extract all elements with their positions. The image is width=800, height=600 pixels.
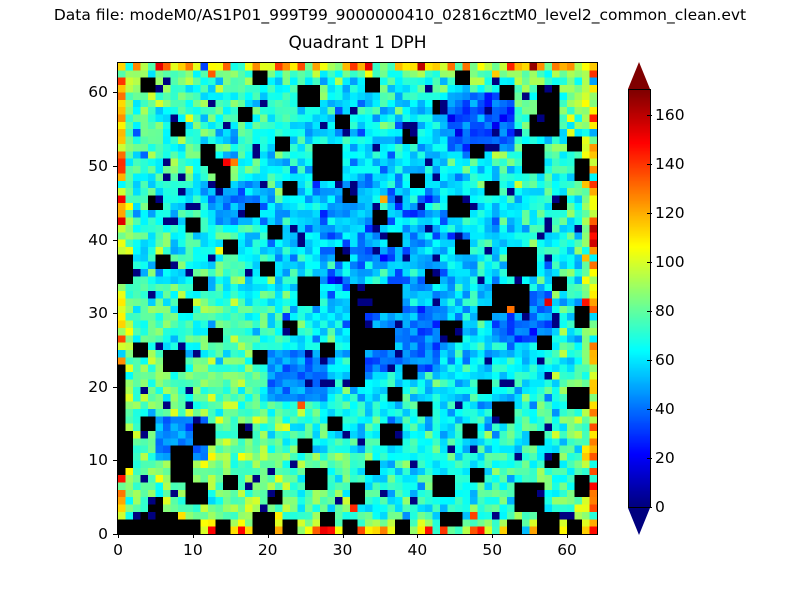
y-tickmark — [113, 166, 117, 167]
y-tick-label: 20 — [88, 378, 108, 396]
colorbar-tick-label: 40 — [655, 400, 675, 418]
x-tick-label: 30 — [333, 541, 353, 559]
colorbar-tickmark — [647, 458, 652, 459]
colorbar-body[interactable] — [628, 89, 651, 508]
x-tick-label: 20 — [258, 541, 278, 559]
detector-heatmap-image[interactable] — [118, 63, 597, 534]
y-tickmark — [113, 92, 117, 93]
x-tick-label: 40 — [408, 541, 428, 559]
y-tickmark — [113, 240, 117, 241]
data-file-label: Data file: modeM0/AS1P01_999T99_90000004… — [0, 6, 800, 24]
matplotlib-figure: Data file: modeM0/AS1P01_999T99_90000004… — [0, 0, 800, 600]
y-tick-label: 40 — [88, 231, 108, 249]
x-tickmark — [118, 534, 119, 538]
x-tickmark — [193, 534, 194, 538]
x-tick-label: 60 — [557, 541, 577, 559]
colorbar-tickmark — [647, 507, 652, 508]
colorbar-tickmark — [647, 360, 652, 361]
colorbar-tickmark — [647, 115, 652, 116]
colorbar-tickmark — [647, 262, 652, 263]
colorbar-extend-min-arrow-icon — [628, 508, 650, 535]
page-title: Quadrant 1 DPH — [117, 33, 598, 53]
y-tickmark — [113, 534, 117, 535]
y-tickmark — [113, 313, 117, 314]
y-tickmark — [113, 387, 117, 388]
y-tick-label: 0 — [98, 525, 108, 543]
heatmap-axes[interactable] — [117, 62, 598, 535]
y-tick-label: 10 — [88, 451, 108, 469]
colorbar-tick-label: 0 — [655, 498, 665, 516]
colorbar-tickmark — [647, 409, 652, 410]
x-tickmark — [567, 534, 568, 538]
colorbar-tick-label: 140 — [655, 155, 685, 173]
y-tick-label: 30 — [88, 304, 108, 322]
colorbar-tick-label: 80 — [655, 302, 675, 320]
colorbar-tick-label: 120 — [655, 204, 685, 222]
x-tick-label: 50 — [482, 541, 502, 559]
colorbar-tickmark — [647, 213, 652, 214]
colorbar[interactable] — [628, 62, 651, 535]
x-tick-label: 10 — [183, 541, 203, 559]
y-tick-label: 60 — [88, 83, 108, 101]
x-tick-label: 0 — [113, 541, 123, 559]
x-tickmark — [343, 534, 344, 538]
y-tick-label: 50 — [88, 157, 108, 175]
x-tickmark — [492, 534, 493, 538]
colorbar-extend-max-arrow-icon — [628, 62, 650, 89]
colorbar-tick-label: 20 — [655, 449, 675, 467]
x-tickmark — [417, 534, 418, 538]
colorbar-gradient — [629, 90, 650, 507]
colorbar-tick-label: 60 — [655, 351, 675, 369]
colorbar-tick-label: 160 — [655, 106, 685, 124]
y-tickmark — [113, 460, 117, 461]
colorbar-tick-label: 100 — [655, 253, 685, 271]
x-tickmark — [268, 534, 269, 538]
colorbar-tickmark — [647, 311, 652, 312]
colorbar-tickmark — [647, 164, 652, 165]
